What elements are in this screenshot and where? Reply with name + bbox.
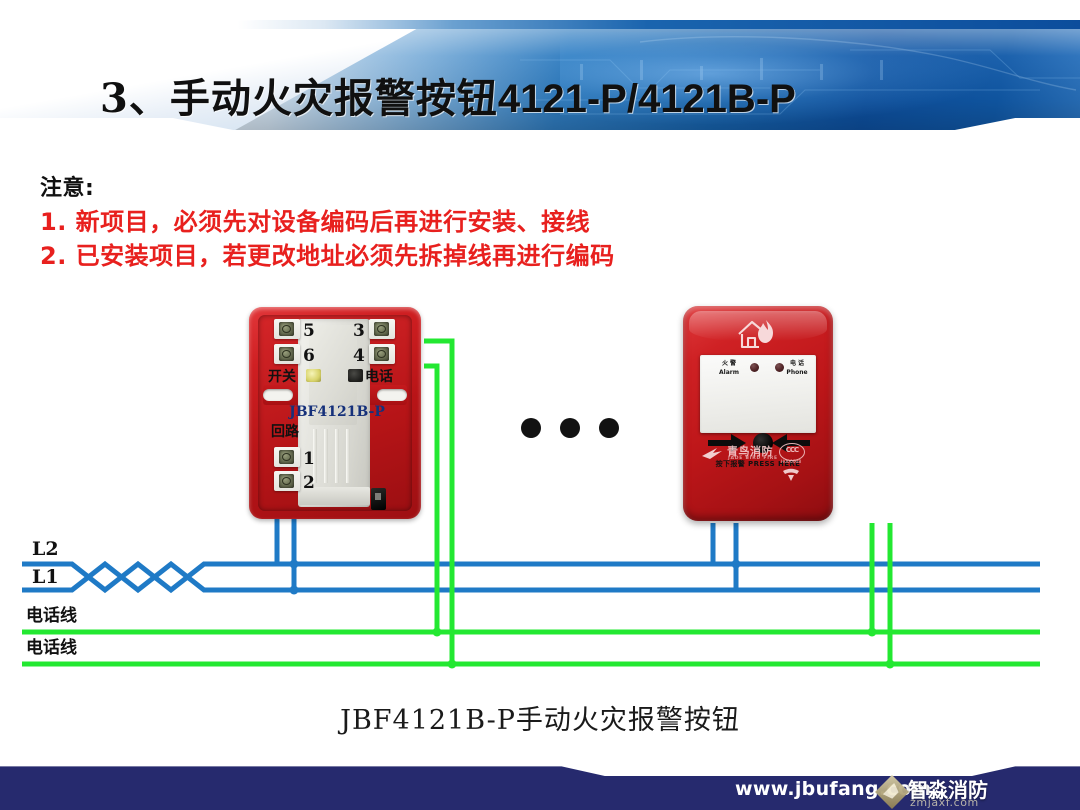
device-left-mount-slot-left (263, 389, 293, 401)
device-right-brand-row: 青鸟消防 JADE BIRD FIRE CCC H000008 (701, 445, 817, 485)
device-right-face-panel: 火 警 Alarm 电 话 Phone 按下报警 PRESS HERE (700, 355, 816, 433)
figure-caption: JBF4121B-P手动火灾报警按钮 (0, 698, 1080, 737)
title-index: 3、 (100, 75, 170, 122)
terminal-label-1: 1 (303, 451, 315, 468)
device-left-ribs (311, 429, 357, 483)
slide-root: 3、手动火灾报警按钮4121-P/4121B-P 注意: 1. 新项目，必须先对… (0, 0, 1080, 810)
terminal-screw-5 (279, 322, 294, 336)
telephone-icon (782, 468, 800, 482)
phone-label-cn: 电 话 (780, 360, 814, 368)
terminal-label-2: 2 (303, 475, 315, 492)
alarm-label-en: Alarm (712, 369, 746, 377)
terminal-screw-2 (279, 474, 294, 488)
slide-footer: www.jbufang.com 智淼消防 zmjaxf.com (0, 756, 1080, 810)
group-label-switch: 开关 (268, 370, 296, 384)
title-text: 手动火灾报警按钮 (170, 75, 498, 122)
group-label-loop: 回路 (271, 425, 299, 439)
device-left-mount-slot-right (377, 389, 407, 401)
device-left-model-label: JBF4121B-P (267, 405, 407, 419)
bus-label-l2: L2 (32, 540, 59, 559)
terminal-screw-3 (374, 322, 389, 336)
fire-house-icon (735, 314, 781, 350)
phone-label-en: Phone (780, 369, 814, 377)
slide-header: 3、手动火灾报警按钮4121-P/4121B-P (0, 0, 1080, 152)
notice-block: 注意: 1. 新项目，必须先对设备编码后再进行安装、接线 2. 已安装项目，若更… (40, 170, 940, 273)
jade-bird-logo-icon (701, 447, 725, 460)
alarm-label-cn: 火 警 (712, 360, 746, 368)
terminal-label-6: 6 (303, 348, 315, 365)
terminal-screw-4 (374, 347, 389, 361)
terminal-screw-1 (279, 450, 294, 464)
watermark: 智淼消防 zmjaxf.com (880, 774, 1070, 810)
wiring-diagram: 5 6 3 4 开关 电话 JBF4121B-P 回路 1 (0, 296, 1080, 696)
terminal-screw-6 (279, 347, 294, 361)
page-title: 3、手动火灾报警按钮4121-P/4121B-P (100, 66, 796, 124)
bus-label-phone-2: 电话线 (26, 640, 77, 657)
terminal-label-3: 3 (353, 323, 365, 340)
alarm-lamp (750, 363, 759, 372)
indicator-led-switch (306, 369, 321, 382)
ellipsis-group (521, 418, 621, 440)
title-model: 4121-P/4121B-P (498, 77, 796, 121)
ccc-cert-number: H000008 (773, 460, 809, 465)
ccc-cert-icon: CCC (779, 443, 805, 461)
brand-name-en: JADE BIRD FIRE (728, 456, 778, 461)
bus-label-phone-1: 电话线 (26, 608, 77, 625)
indicator-led-phone (348, 369, 363, 382)
notice-heading: 注意: (40, 170, 940, 202)
device-left-base[interactable]: 5 6 3 4 开关 电话 JBF4121B-P 回路 1 (249, 307, 421, 519)
notice-item-1: 1. 新项目，必须先对设备编码后再进行安装、接线 (40, 205, 940, 239)
group-label-phone: 电话 (365, 370, 393, 384)
notice-item-2: 2. 已安装项目，若更改地址必须先拆掉线再进行编码 (40, 239, 940, 273)
device-right-callpoint[interactable]: 火 警 Alarm 电 话 Phone 按下报警 PRESS HERE (683, 306, 833, 521)
terminal-label-4: 4 (353, 348, 365, 365)
watermark-brand-en: zmjaxf.com (910, 796, 979, 809)
watermark-diamond-icon (875, 775, 909, 809)
terminal-label-5: 5 (303, 323, 315, 340)
header-top-stripe (0, 20, 1080, 29)
ccc-cert-text: CCC (780, 446, 804, 454)
bus-label-l1: L1 (32, 568, 59, 587)
wiring-lines (0, 296, 1080, 696)
device-left-black-clip (371, 488, 386, 510)
